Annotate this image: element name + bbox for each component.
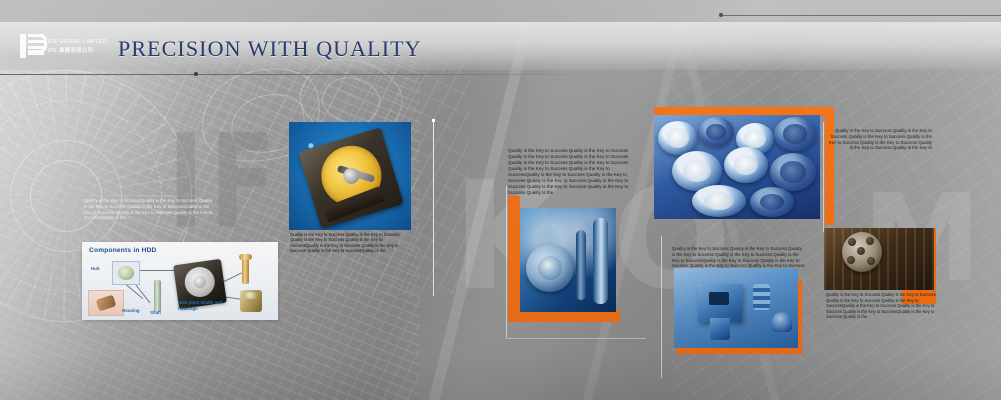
brochure-page: IFE K O M IFE GROUP LIMITED IFE 集團有限公司 P…: [0, 0, 1001, 400]
page-vignette: [0, 0, 1001, 400]
